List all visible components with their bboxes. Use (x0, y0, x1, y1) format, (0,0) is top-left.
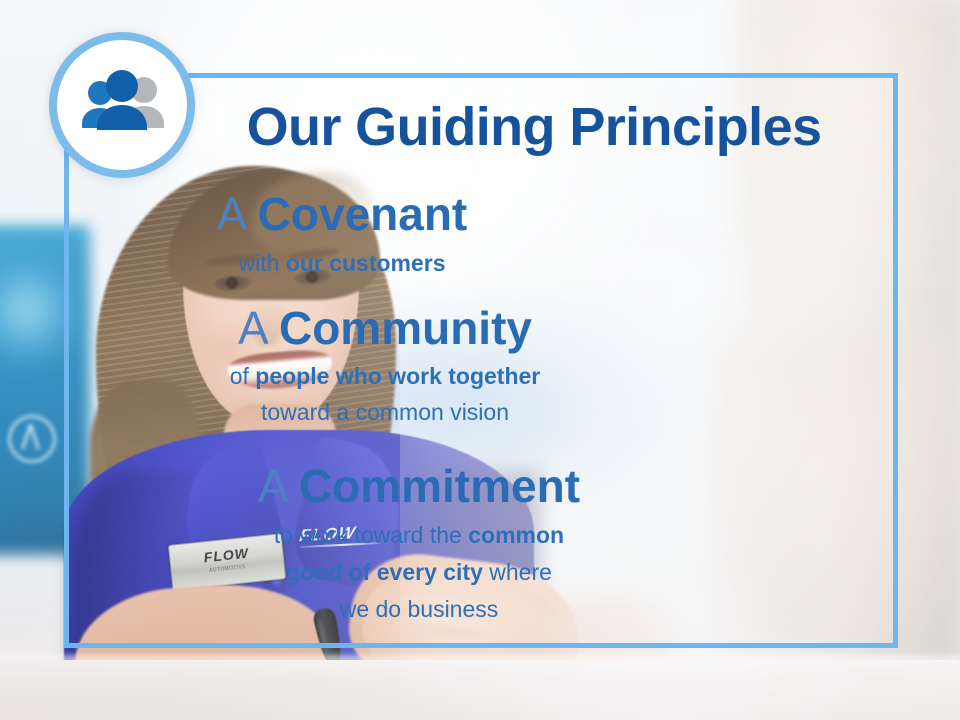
principle-covenant: A Covenant with our customers (0, 186, 684, 279)
subtitle-segment-bold: good of every city (286, 559, 483, 585)
principle-heading: A Community (0, 300, 770, 356)
principle-article: A (238, 302, 266, 354)
principle-commitment: A Commitment to work toward the common g… (0, 458, 838, 625)
subtitle-segment-bold: our customers (286, 250, 446, 276)
page-title: Our Guiding Principles (0, 96, 960, 158)
principle-subtitle-line: good of every city where (0, 556, 838, 588)
principle-subtitle-line: toward a common vision (0, 396, 770, 428)
principle-subtitle-line: with our customers (0, 247, 684, 279)
principle-heading: A Covenant (0, 186, 684, 242)
principle-article: A (258, 460, 286, 512)
principle-article: A (217, 188, 245, 240)
subtitle-segment: of (230, 363, 256, 389)
guiding-principles-banner: FLOW FLOW AUTOMOTIVE (0, 0, 960, 720)
principle-word: Commitment (299, 460, 580, 512)
principle-subtitle-line: we do business (0, 593, 838, 625)
principle-community: A Community of people who work together … (0, 300, 770, 428)
principle-word: Community (279, 302, 532, 354)
subtitle-segment: where (483, 559, 552, 585)
principle-subtitle-line: of people who work together (0, 360, 770, 392)
desk-surface (0, 660, 960, 720)
subtitle-segment: with (238, 250, 285, 276)
subtitle-segment: to work toward the (274, 522, 468, 548)
principle-subtitle-line: to work toward the common (0, 519, 838, 551)
principle-heading: A Commitment (0, 458, 838, 514)
principle-word: Covenant (258, 188, 468, 240)
subtitle-segment: toward a common vision (261, 399, 509, 425)
subtitle-segment-bold: people who work together (255, 363, 540, 389)
subtitle-segment: we do business (340, 596, 499, 622)
subtitle-segment-bold: common (468, 522, 564, 548)
